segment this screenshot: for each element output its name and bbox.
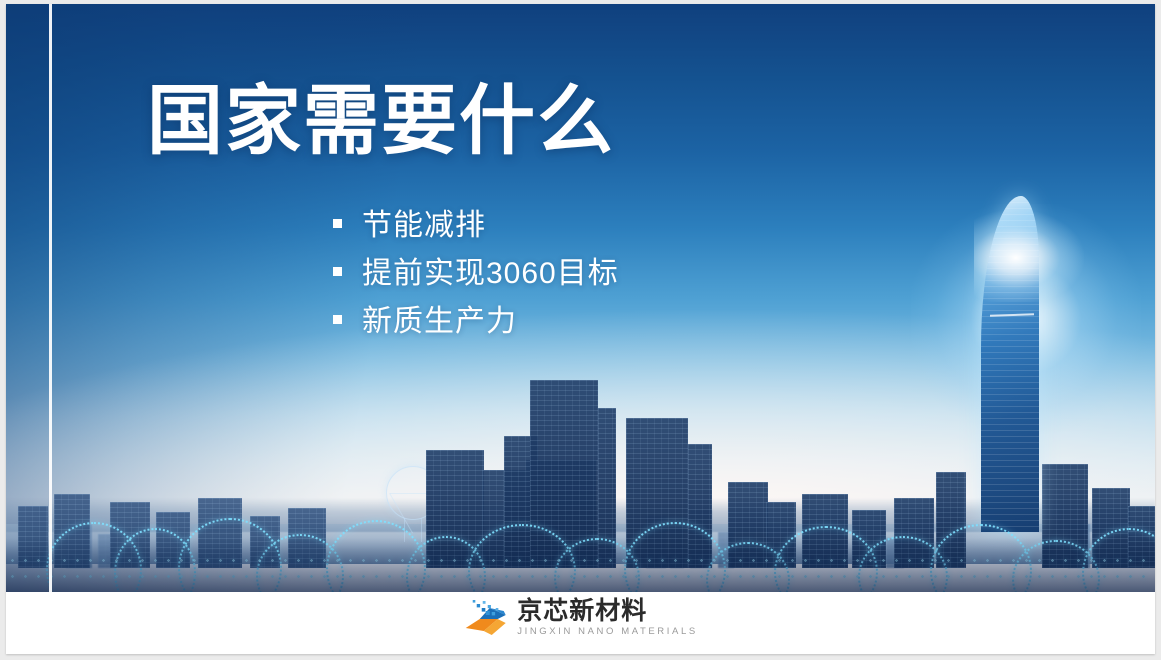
- background-cityscape-photo: 国家需要什么 节能减排 提前实现3060目标 新质生产力: [6, 4, 1155, 592]
- list-item-label: 新质生产力: [362, 296, 517, 340]
- list-item: 新质生产力: [333, 294, 619, 342]
- building-front: [852, 510, 886, 568]
- building-front: [426, 450, 484, 568]
- building-front: [802, 494, 848, 568]
- logo-name-cn: 京芯新材料: [517, 598, 698, 624]
- building-tower-right: [626, 418, 688, 568]
- slide-footer: 京芯新材料 JINGXIN NANO MATERIALS: [6, 592, 1155, 654]
- slide-page-frame: 国家需要什么 节能减排 提前实现3060目标 新质生产力: [0, 0, 1161, 660]
- square-bullet-icon: [333, 315, 342, 324]
- slide-canvas: 国家需要什么 节能减排 提前实现3060目标 新质生产力: [6, 4, 1155, 654]
- page-title: 国家需要什么: [147, 82, 615, 162]
- company-logo: 京芯新材料 JINGXIN NANO MATERIALS: [463, 598, 698, 638]
- building-front: [936, 472, 966, 568]
- jingxin-pixel-cube-logo-icon: [463, 599, 507, 637]
- building-mid: [250, 516, 280, 568]
- list-item-label: 节能减排: [362, 200, 486, 244]
- list-item-label: 提前实现3060目标: [362, 248, 619, 292]
- building-front: [1128, 506, 1155, 568]
- building-mid: [156, 512, 190, 568]
- square-bullet-icon: [333, 267, 342, 276]
- building-tower-center-wing: [598, 408, 616, 568]
- building-mid: [110, 502, 150, 568]
- list-item: 节能减排: [333, 198, 619, 246]
- building-front: [894, 498, 934, 568]
- building-front: [1042, 464, 1088, 568]
- building-tower-center: [530, 380, 598, 568]
- building-front: [1092, 488, 1130, 568]
- bullet-list: 节能减排 提前实现3060目标 新质生产力: [333, 198, 619, 342]
- ferris-wheel-support: [404, 518, 422, 542]
- building-tower-right-wing: [688, 444, 712, 568]
- building-front: [728, 482, 768, 568]
- network-dot-row: [6, 575, 1155, 578]
- square-bullet-icon: [333, 219, 342, 228]
- curved-skyscraper: [981, 196, 1039, 532]
- list-item: 提前实现3060目标: [333, 246, 619, 294]
- logo-text-group: 京芯新材料 JINGXIN NANO MATERIALS: [517, 598, 698, 638]
- building-mid: [54, 494, 90, 568]
- building-mid: [198, 498, 242, 568]
- logo-name-en: JINGXIN NANO MATERIALS: [517, 626, 698, 637]
- building-front: [766, 502, 796, 568]
- left-vertical-rule: [49, 4, 52, 592]
- building-mid: [288, 508, 326, 568]
- building-mid: [18, 506, 48, 568]
